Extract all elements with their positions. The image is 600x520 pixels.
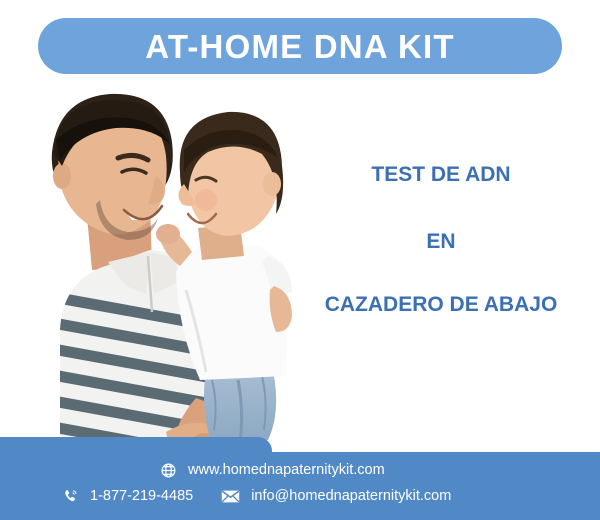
globe-icon xyxy=(160,462,177,479)
footer-email-item[interactable]: info@homednapaternitykit.com xyxy=(221,489,451,504)
father-holding-toddler-photo xyxy=(0,80,325,460)
footer-website-row: www.homednapaternitykit.com xyxy=(160,462,385,479)
headline-line-1: TEST DE ADN xyxy=(296,162,586,187)
footer-contact-row: 1-877-219-4485 info@homednapaternitykit.… xyxy=(62,488,451,505)
poster-canvas: AT-HOME DNA KIT xyxy=(0,0,600,520)
headline-line-2: EN xyxy=(296,229,586,254)
footer-phone-label: 1-877-219-4485 xyxy=(90,489,193,504)
footer-website-label: www.homednapaternitykit.com xyxy=(188,463,385,478)
headline-line-3: CAZADERO DE ABAJO xyxy=(296,292,586,317)
footer-bar: www.homednapaternitykit.com 1-877-219-44… xyxy=(0,452,600,520)
headline-block: TEST DE ADN EN CAZADERO DE ABAJO xyxy=(296,162,586,318)
footer-phone-item[interactable]: 1-877-219-4485 xyxy=(62,488,193,505)
footer-website-item[interactable]: www.homednapaternitykit.com xyxy=(160,462,385,479)
page-title: AT-HOME DNA KIT xyxy=(145,30,454,63)
header-banner: AT-HOME DNA KIT xyxy=(38,18,562,74)
phone-icon xyxy=(62,488,79,505)
footer-email-label: info@homednapaternitykit.com xyxy=(251,489,451,504)
envelope-icon xyxy=(221,489,240,504)
